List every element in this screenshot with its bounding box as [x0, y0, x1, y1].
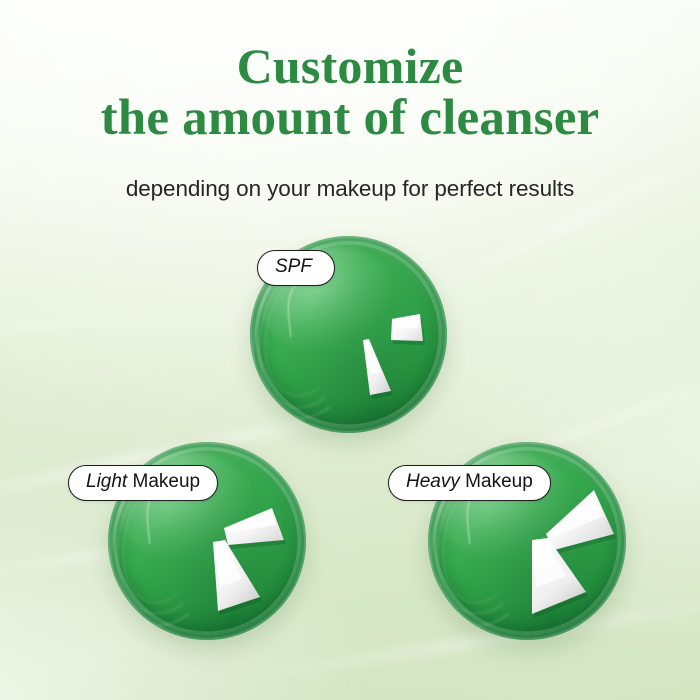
- label-emphasis-spf: SPF: [275, 256, 312, 279]
- label-rest-heavy: Makeup: [465, 471, 533, 494]
- cream-dollop-upper: [546, 490, 616, 554]
- promo-poster: Customize the amount of cleanser dependi…: [0, 0, 700, 700]
- cream-dollop-upper: [391, 314, 425, 345]
- headline-line-2: the amount of cleanser: [0, 92, 700, 145]
- label-pill-light-makeup: LightMakeup: [68, 465, 218, 501]
- label-pill-spf: SPF: [257, 250, 335, 286]
- page-title: Customize the amount of cleanser: [0, 40, 700, 145]
- label-pill-heavy-makeup: HeavyMakeup: [388, 465, 551, 501]
- label-rest-light: Makeup: [133, 471, 201, 494]
- cream-dollop-lower: [363, 339, 393, 399]
- headline-line-1: Customize: [0, 40, 700, 92]
- label-emphasis-heavy: Heavy: [406, 471, 460, 494]
- page-subtitle: depending on your makeup for perfect res…: [0, 176, 700, 202]
- cream-dollop-lower: [213, 540, 262, 615]
- cream-dollop-upper: [224, 508, 286, 549]
- headline-block: Customize the amount of cleanser: [0, 40, 700, 145]
- label-emphasis-light: Light: [86, 471, 127, 494]
